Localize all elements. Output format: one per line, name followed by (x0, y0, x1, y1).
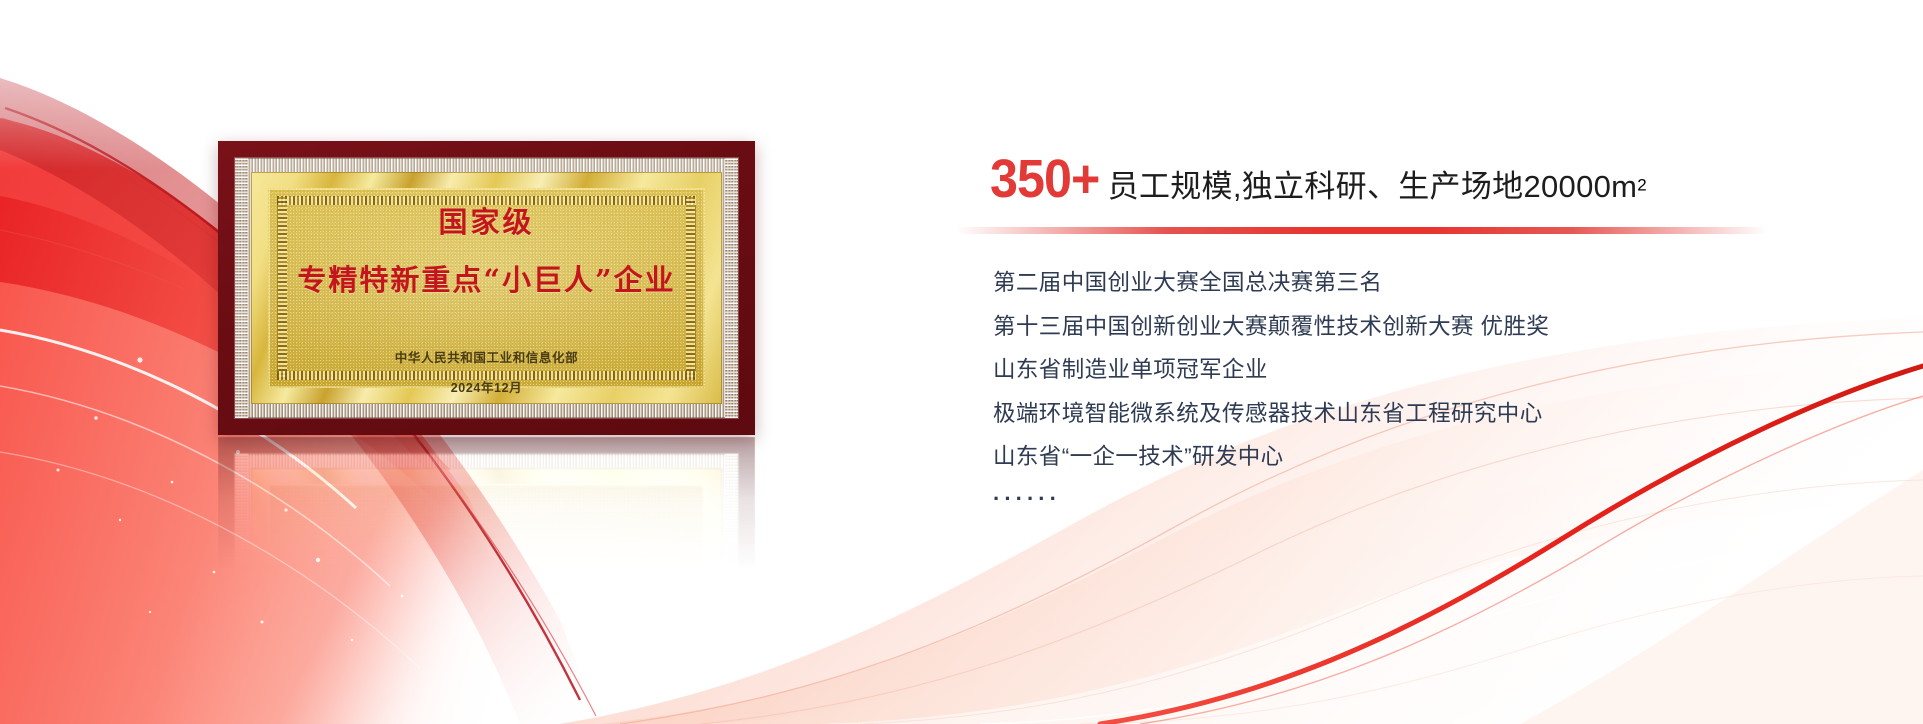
list-item: 第十三届中国创新创业大赛颠覆性技术创新大赛 优胜奖 (993, 316, 1549, 339)
honors-banner: 国家级 专精特新重点“小巨人”企业 中华人民共和国工业和信息化部 2024年12… (0, 0, 1923, 724)
plaque-issuer: 中华人民共和国工业和信息化部 (395, 347, 578, 366)
list-item: 第二届中国创业大赛全国总决赛第三名 (993, 272, 1549, 295)
plaque-date: 2024年12月 (451, 377, 523, 396)
headline-number: 350+ (990, 148, 1099, 210)
list-item: 山东省“一企一技术”研发中心 (993, 446, 1549, 469)
plaque-title-line1: 国家级 (438, 199, 534, 241)
list-item: 极端环境智能微系统及传感器技术山东省工程研究中心 (993, 403, 1549, 426)
headline-divider-rule (955, 227, 1767, 234)
award-plaque: 国家级 专精特新重点“小巨人”企业 中华人民共和国工业和信息化部 2024年12… (218, 141, 755, 435)
headline-superscript: 2 (1637, 176, 1646, 195)
headline-text: 员工规模,独立科研、生产场地20000m (1108, 169, 1638, 204)
headline: 350+员工规模,独立科研、生产场地20000m2 (990, 148, 1647, 210)
more-indicator: ······ (993, 486, 1549, 512)
plaque-title-line2: 专精特新重点“小巨人”企业 (297, 257, 675, 299)
honors-list: 第二届中国创业大赛全国总决赛第三名 第十三届中国创新创业大赛颠覆性技术创新大赛 … (993, 272, 1549, 512)
list-item: 山东省制造业单项冠军企业 (993, 359, 1549, 382)
plaque-outer-frame: 国家级 专精特新重点“小巨人”企业 中华人民共和国工业和信息化部 2024年12… (218, 141, 755, 435)
plaque-text-block: 国家级 专精特新重点“小巨人”企业 中华人民共和国工业和信息化部 2024年12… (218, 141, 755, 435)
